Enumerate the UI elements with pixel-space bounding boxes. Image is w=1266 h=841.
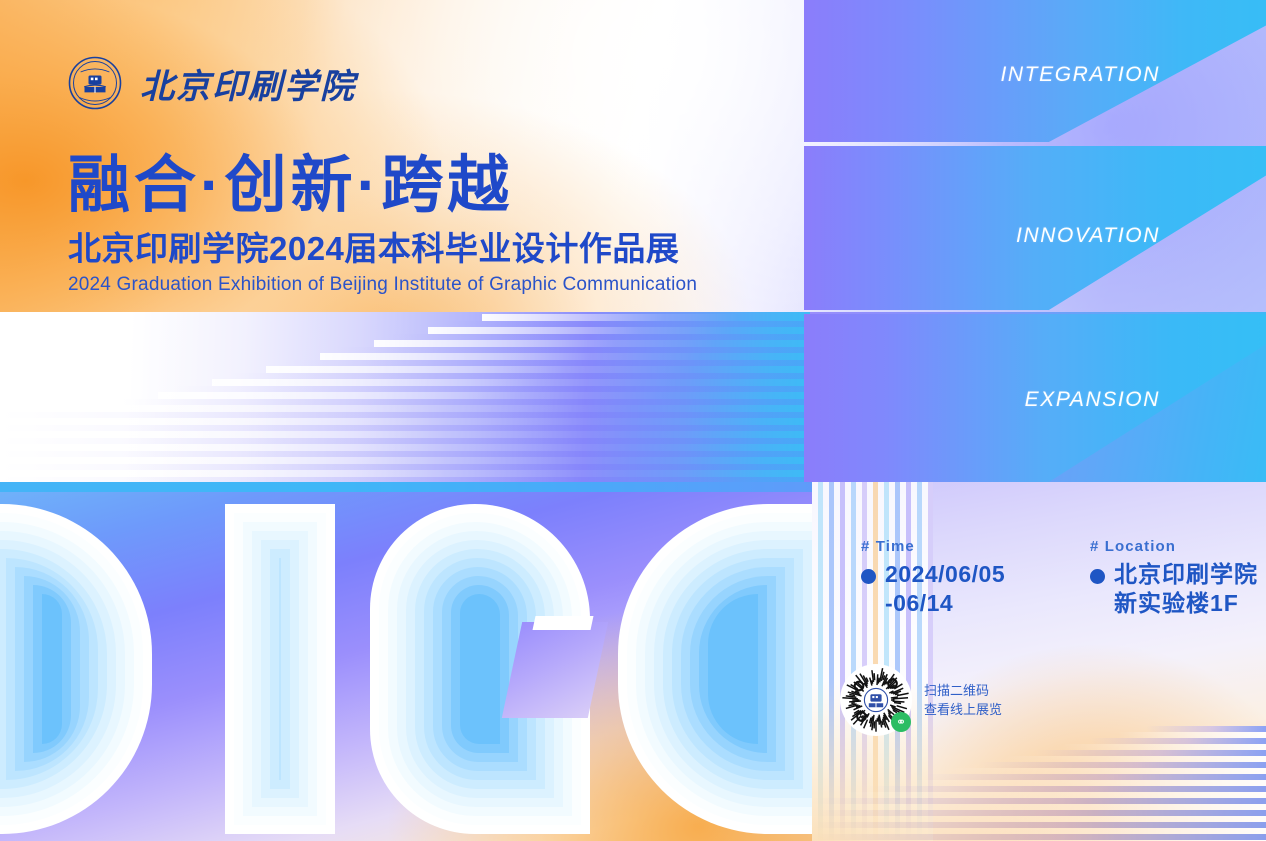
bigc-letter-g [370,504,590,834]
location-label: # Location [1090,538,1258,555]
time-label: # Time [861,538,1005,555]
bigc-wordmark-block: BIGC [0,482,812,841]
decorative-stripe-band [0,312,812,482]
page-subtitle-en: 2024 Graduation Exhibition of Beijing In… [68,274,697,296]
bottom-stripes-decoration [812,726,1266,841]
keyword-bands: INTEGRATION INNOVATION EXPANSION [804,0,1266,482]
bigc-letter-c [618,504,812,834]
band-label-expansion: EXPANSION [1025,388,1160,412]
bigc-letter-i [225,504,335,834]
time-value: 2024/06/05 -06/14 [885,560,1005,618]
bigc-seal-logo-icon [68,56,122,110]
location-value: 北京印刷学院 新实验楼1F [1114,560,1258,618]
info-panel: # Time 2024/06/05 -06/14 # Location 北京印刷… [812,482,1266,841]
time-block: # Time 2024/06/05 -06/14 [861,538,1005,618]
bigc-top-strip [0,482,812,492]
location-block: # Location 北京印刷学院 新实验楼1F [1090,538,1258,618]
time-row: 2024/06/05 -06/14 [861,560,1005,618]
qr-caption: 扫描二维码 查看线上展览 [924,681,1002,719]
wechat-miniprogram-qr-icon[interactable]: ⚭ [840,664,912,736]
bullet-dot-icon [1090,569,1105,584]
logo-row: 北京印刷学院 [68,56,356,110]
bullet-dot-icon [861,569,876,584]
qr-block[interactable]: ⚭ 扫描二维码 查看线上展览 [840,664,1002,736]
poster-canvas: INTEGRATION INNOVATION EXPANSION BIGC # … [0,0,1266,841]
band-label-integration: INTEGRATION [1000,63,1160,87]
page-title: 融合·创新·跨越 [68,152,513,220]
location-row: 北京印刷学院 新实验楼1F [1090,560,1258,618]
bigc-letter-b [0,504,152,834]
page-subtitle: 北京印刷学院2024届本科毕业设计作品展 [68,230,679,268]
wechat-miniprogram-badge-icon: ⚭ [891,712,911,732]
institution-name: 北京印刷学院 [140,59,356,108]
band-label-innovation: INNOVATION [1016,224,1160,248]
